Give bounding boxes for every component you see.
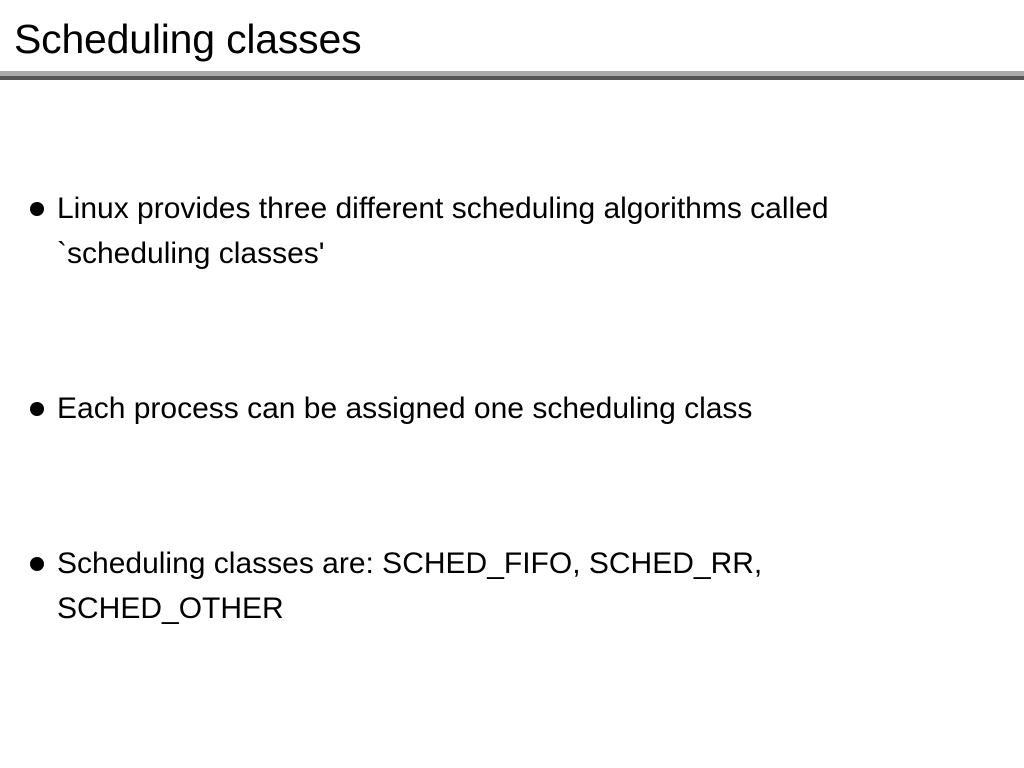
list-item-label: Scheduling classes are: SCHED_FIFO, SCHE… [57, 541, 990, 631]
bullet-list: Linux provides three different schedulin… [30, 186, 990, 631]
page-title: Scheduling classes [14, 14, 361, 64]
presentation-slide: Scheduling classes Linux provides three … [0, 0, 1024, 768]
filled-circle-bullet-icon [30, 557, 44, 571]
list-item: Each process can be assigned one schedul… [30, 386, 990, 431]
title-divider-dark-band [0, 76, 1024, 80]
title-divider [0, 71, 1024, 80]
filled-circle-bullet-icon [30, 402, 44, 416]
list-item: Scheduling classes are: SCHED_FIFO, SCHE… [30, 541, 990, 631]
list-item-label: Each process can be assigned one schedul… [57, 386, 990, 431]
filled-circle-bullet-icon [30, 202, 44, 216]
list-item-label: Linux provides three different schedulin… [57, 186, 990, 276]
list-item: Linux provides three different schedulin… [30, 186, 990, 276]
